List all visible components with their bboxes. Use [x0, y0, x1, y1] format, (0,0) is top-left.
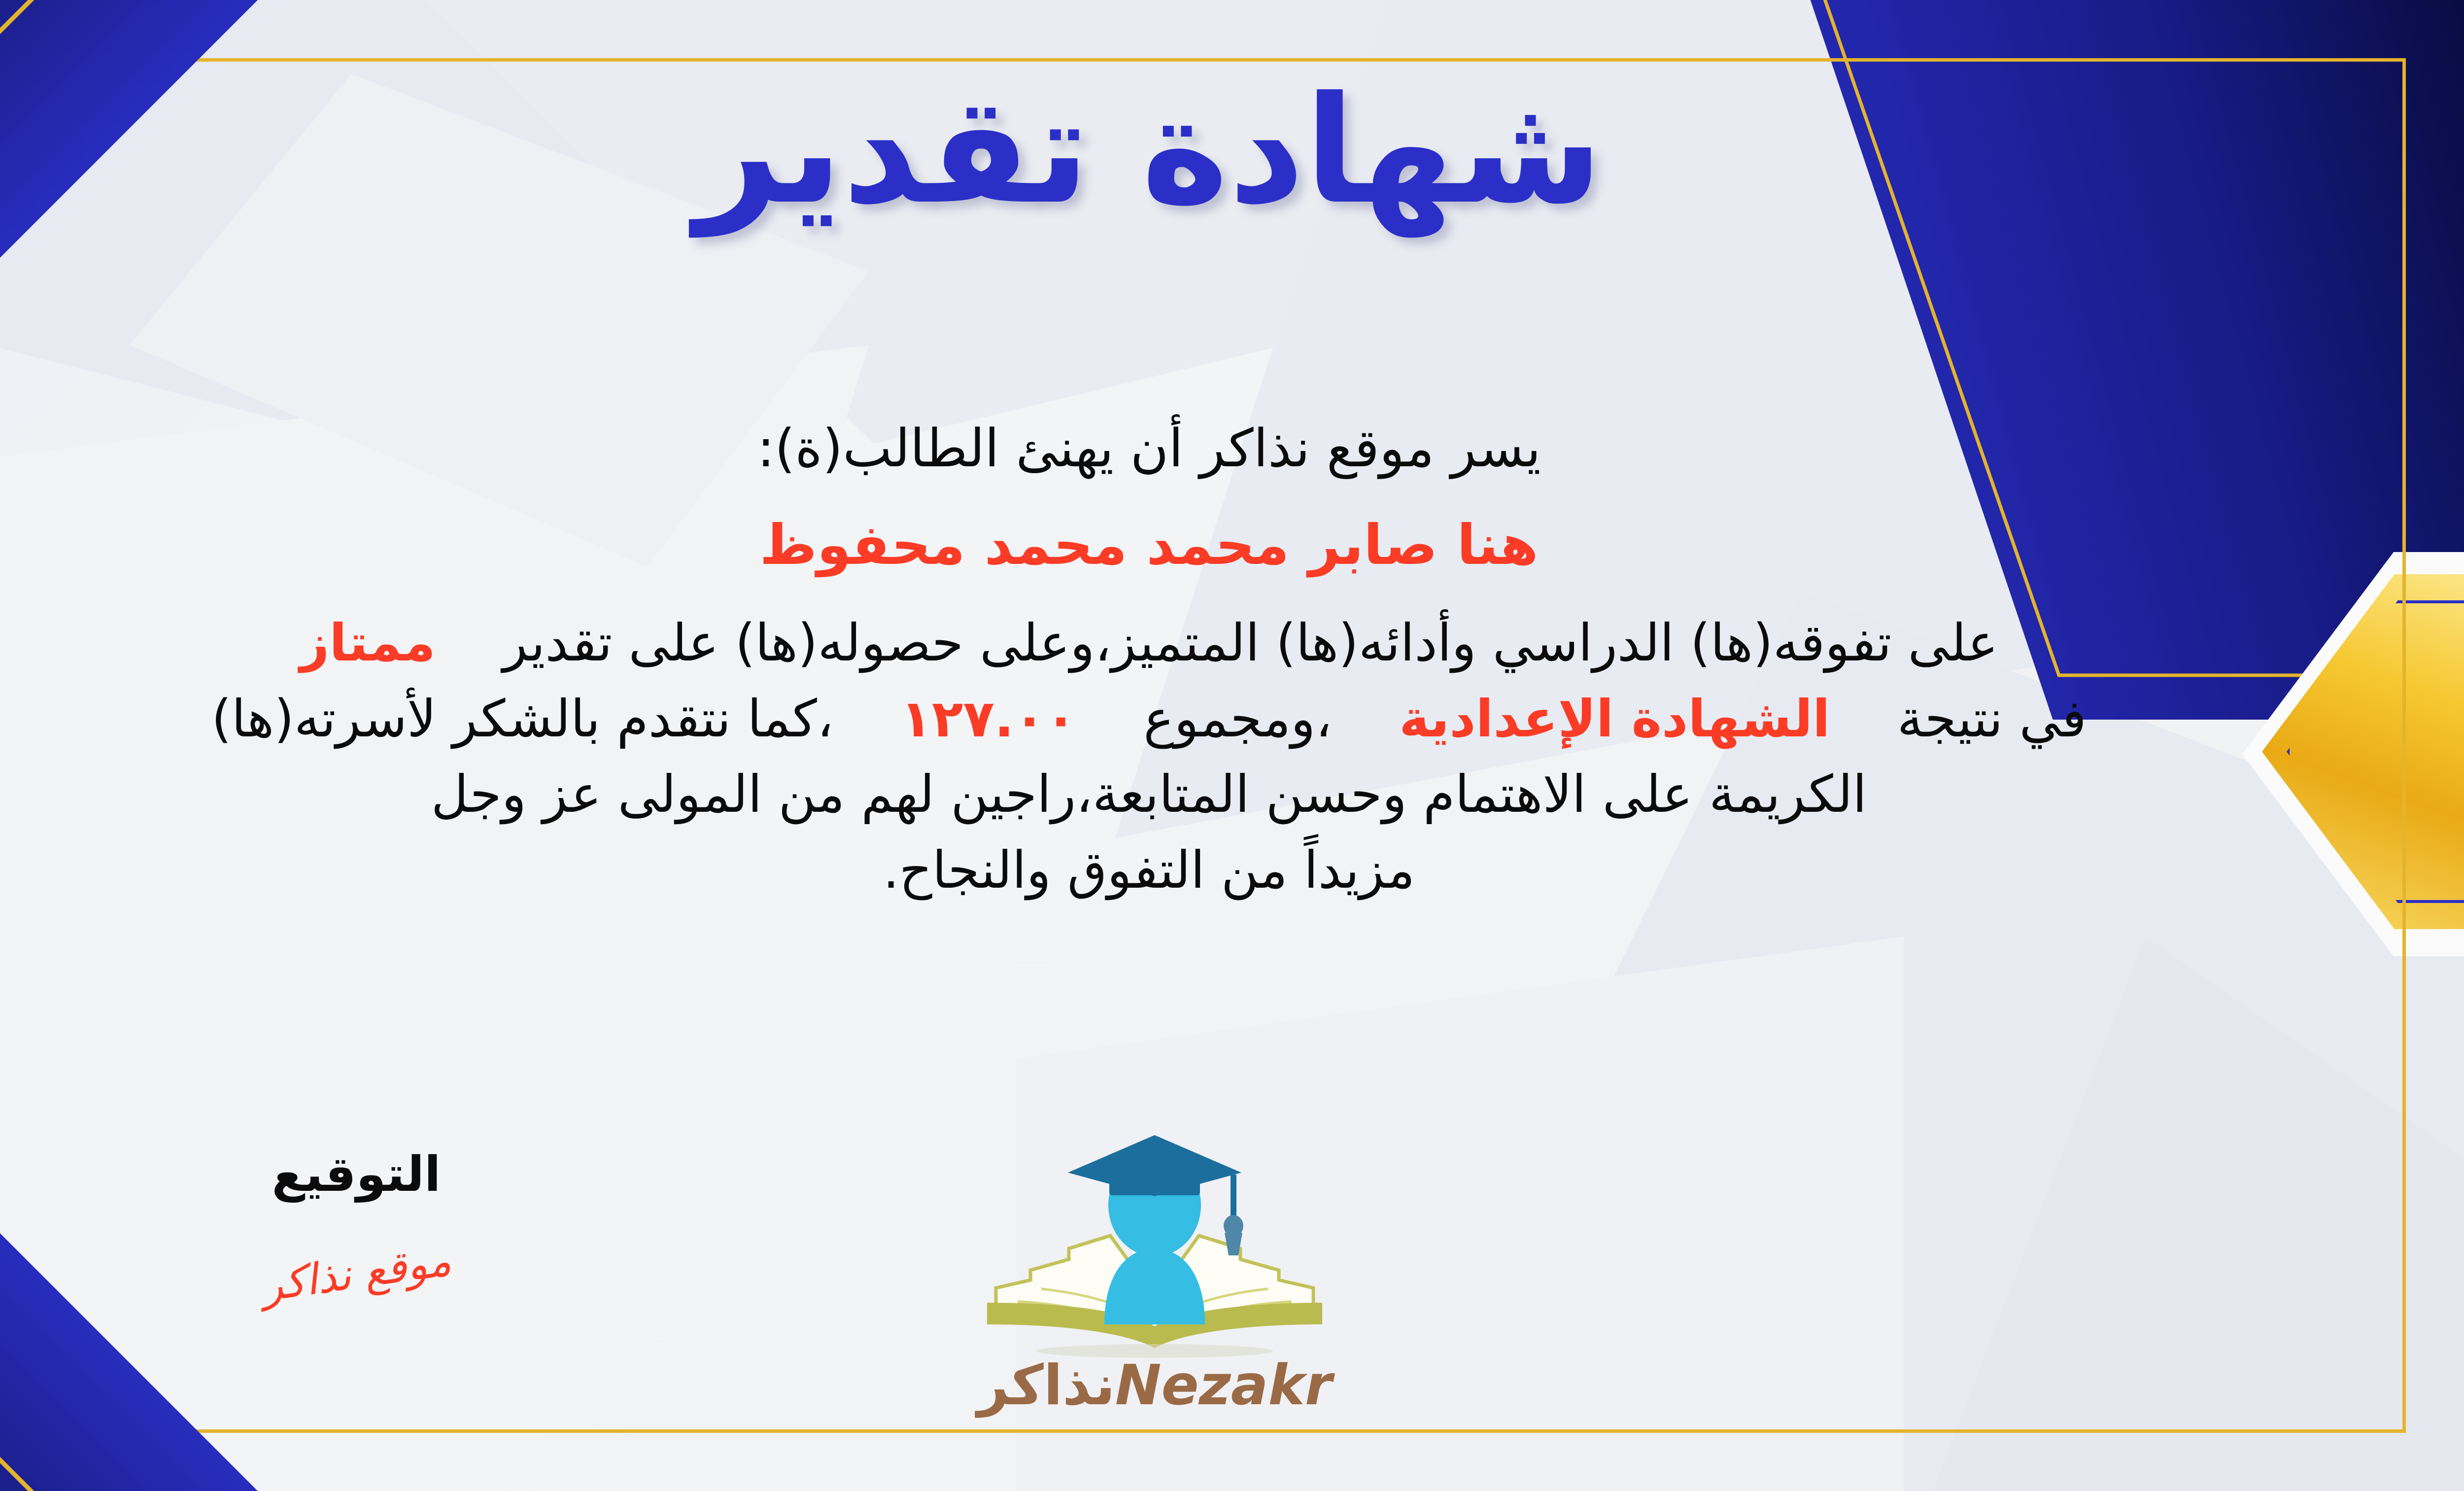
graduate-book-icon — [972, 1131, 1337, 1363]
student-name: هنا صابر محمد محمد محفوظ — [0, 510, 2464, 582]
achievement-text: على تفوقه(ها) الدراسي وأدائه(ها) المتميز… — [503, 613, 1998, 673]
achievement-line: على تفوقه(ها) الدراسي وأدائه(ها) المتميز… — [0, 607, 2464, 680]
logo-wordmark: Nezakrنذاكر — [972, 1358, 1337, 1413]
thanks-prefix: ،كما نتقدم بالشكر لأسرته(ها) — [211, 689, 833, 749]
total-score: ١٢٧.٠٠ — [900, 689, 1076, 749]
certificate-canvas: شهادة تقدير يسر موقع نذاكر أن يهنئ الطال… — [0, 0, 2464, 1491]
signature-mark: موقع نذاكر — [259, 1236, 454, 1311]
grade-value: ممتاز — [300, 613, 436, 673]
family-thanks-line: الكريمة على الاهتمام وحسن المتابعة،راجين… — [0, 758, 2464, 831]
total-label: ،ومجموع — [1143, 689, 1332, 749]
result-prefix: في نتيجة — [1897, 689, 2087, 749]
exam-name: الشهادة الإعدادية — [1399, 689, 1830, 749]
logo-text-arabic: نذاكر — [977, 1353, 1115, 1418]
intro-line: يسر موقع نذاكر أن يهنئ الطالب(ة): — [0, 412, 2464, 486]
signature-label: التوقيع — [169, 1148, 544, 1202]
result-line: في نتيجة الشهادة الإعدادية ،ومجموع ١٢٧.٠… — [0, 683, 2464, 756]
closing-line: مزيداً من التفوق والنجاح. — [0, 834, 2464, 907]
site-logo: Nezakrنذاكر — [972, 1131, 1337, 1427]
logo-text-english: Nezakr — [1115, 1353, 1332, 1418]
intro-text: يسر موقع نذاكر أن يهنئ الطالب(ة): — [757, 418, 1541, 479]
signature-block: التوقيع موقع نذاكر — [169, 1148, 544, 1298]
certificate-body: يسر موقع نذاكر أن يهنئ الطالب(ة): هنا صا… — [0, 412, 2464, 910]
certificate-title: شهادة تقدير — [0, 58, 2464, 243]
